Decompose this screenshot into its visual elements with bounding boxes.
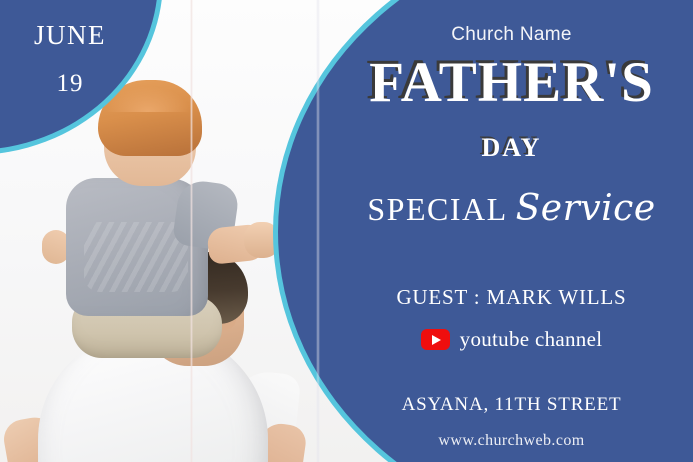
play-triangle-icon bbox=[432, 335, 441, 345]
church-name: Church Name bbox=[330, 24, 693, 46]
youtube-label[interactable]: youtube channel bbox=[460, 327, 603, 352]
date-month: JUNE bbox=[0, 22, 140, 49]
guest-line: GUEST : MARK WILLS bbox=[330, 285, 693, 310]
special-service-line: SPECIALService bbox=[330, 191, 693, 227]
special-word: SPECIAL bbox=[367, 191, 507, 227]
website-line[interactable]: www.churchweb.com bbox=[330, 432, 693, 450]
date-badge: JUNE 19 bbox=[0, 0, 140, 96]
headline-fathers: FATHER'S bbox=[330, 54, 693, 111]
poster-content: Church Name FATHER'S DAY SPECIALService … bbox=[330, 0, 693, 462]
panel-seam-line bbox=[316, 0, 320, 462]
youtube-row[interactable]: youtube channel bbox=[330, 327, 693, 352]
date-day: 19 bbox=[0, 71, 140, 96]
address-line: ASYANA, 11TH STREET bbox=[330, 394, 693, 416]
service-word: Service bbox=[516, 188, 656, 229]
headline-day: DAY bbox=[330, 133, 693, 163]
poster-canvas: JUNE 19 Church Name FATHER'S DAY SPECIAL… bbox=[0, 0, 693, 462]
youtube-icon[interactable] bbox=[421, 329, 450, 350]
